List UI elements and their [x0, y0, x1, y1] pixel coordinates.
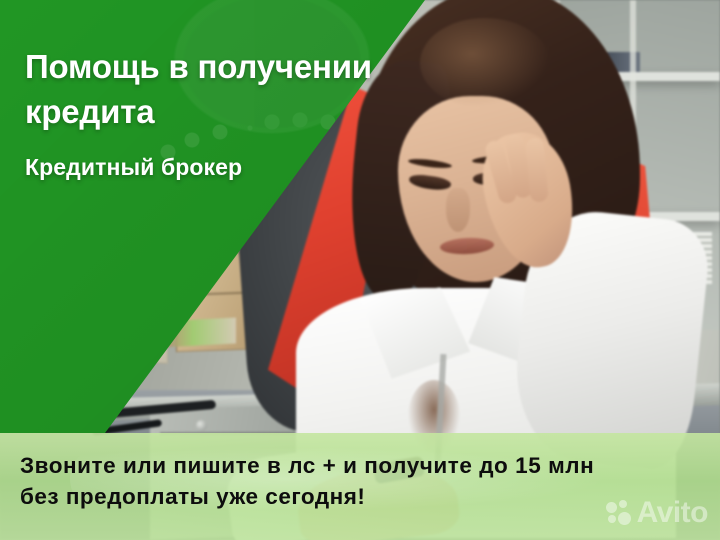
headline: Помощь в получении кредита: [25, 44, 395, 134]
cta-line-1: Звоните или пишите в лс + и получите до …: [20, 450, 720, 481]
advertisement-card: SvetoCopy Помощь в получ: [0, 0, 720, 540]
avito-wordmark: Avito: [637, 498, 708, 528]
avito-dots-icon: [606, 500, 632, 526]
person-hair-highlight: [420, 18, 550, 108]
avito-watermark: Avito: [606, 498, 708, 528]
drawer-lock-knob: [196, 420, 207, 431]
subheadline: Кредитный брокер: [25, 154, 242, 181]
person-nose: [446, 188, 470, 232]
cta-banner: Звоните или пишите в лс + и получите до …: [0, 433, 720, 540]
